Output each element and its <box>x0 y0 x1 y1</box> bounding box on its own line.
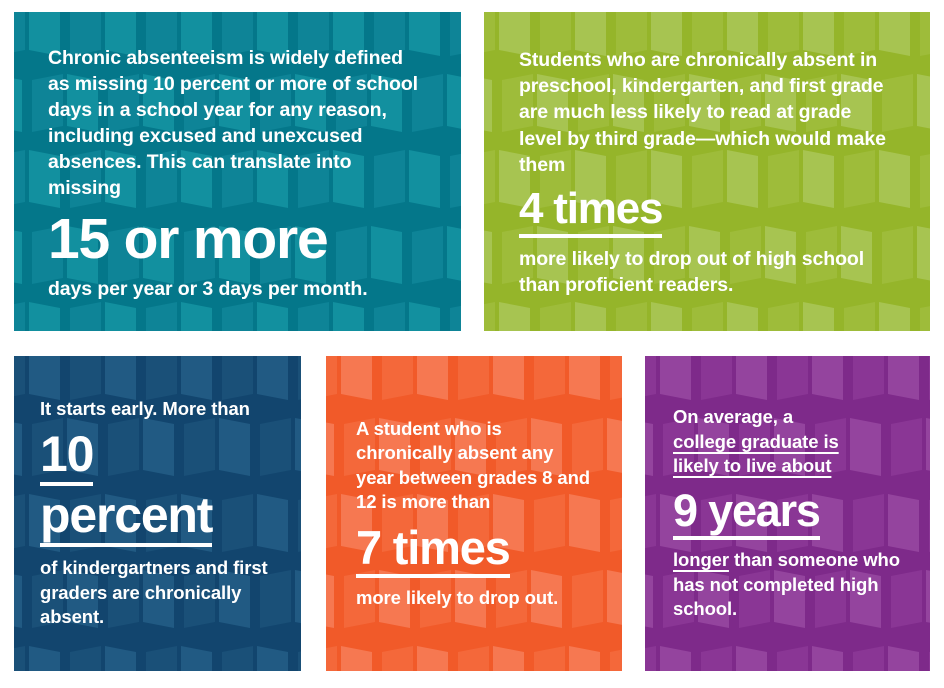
card-navy-body: It starts early. More than 10 percent of… <box>40 397 275 629</box>
card-purple-intro-line1: On average, a <box>673 405 902 430</box>
card-green-intro: Students who are chronically absent in p… <box>519 47 895 178</box>
card-orange-stat-wrap: 7 times <box>356 524 592 578</box>
card-purple-outro: longer than someone who has not complete… <box>673 548 902 622</box>
card-teal-body: Chronic absenteeism is widely defined as… <box>48 41 427 303</box>
card-orange-outro: more likely to drop out. <box>356 586 592 611</box>
card-purple: On average, a college graduate is likely… <box>645 356 930 671</box>
card-green: Students who are chronically absent in p… <box>484 12 930 331</box>
card-green-outro: more likely to drop out of high school t… <box>519 246 895 298</box>
card-navy-intro: It starts early. More than <box>40 397 275 422</box>
card-orange-intro: A student who is chronically absent any … <box>356 417 592 515</box>
card-navy-stat2: percent <box>40 490 212 547</box>
card-teal: Chronic absenteeism is widely defined as… <box>14 12 461 331</box>
card-orange-body: A student who is chronically absent any … <box>356 417 592 611</box>
card-teal-outro: days per year or 3 days per month. <box>48 276 427 302</box>
card-purple-stat: 9 years <box>673 488 820 540</box>
card-purple-intro-line3: likely to live about <box>673 454 902 479</box>
card-teal-stat: 15 or more <box>48 210 427 268</box>
card-navy-stat2-wrap: percent <box>40 490 275 547</box>
card-purple-stat-wrap: 9 years <box>673 488 902 540</box>
infographic-root: Chronic absenteeism is widely defined as… <box>0 0 944 688</box>
card-green-body: Students who are chronically absent in p… <box>519 45 895 298</box>
card-navy-stat: 10 <box>40 429 93 486</box>
card-orange-stat: 7 times <box>356 524 510 578</box>
card-navy-outro: of kindergartners and first graders are … <box>40 556 275 630</box>
card-purple-body: On average, a college graduate is likely… <box>673 405 902 621</box>
card-navy-stat-wrap: 10 <box>40 429 275 486</box>
card-orange: A student who is chronically absent any … <box>326 356 622 671</box>
card-green-stat: 4 times <box>519 187 662 238</box>
card-purple-intro-line2: college graduate is <box>673 430 902 455</box>
card-navy: It starts early. More than 10 percent of… <box>14 356 301 671</box>
card-purple-outro-keyword: longer <box>673 549 729 570</box>
card-green-stat-wrap: 4 times <box>519 187 895 238</box>
card-teal-intro: Chronic absenteeism is widely defined as… <box>48 45 427 202</box>
